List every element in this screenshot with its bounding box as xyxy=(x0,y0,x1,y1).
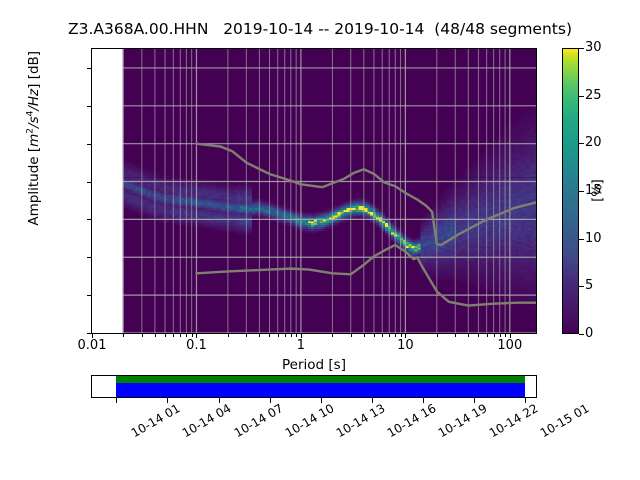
time-tick-mark xyxy=(321,398,322,403)
x-tick-label: 1 xyxy=(297,339,305,352)
x-tick-label: 100 xyxy=(497,339,522,352)
x-tick-mark-minor xyxy=(296,334,297,337)
x-tick-mark-minor xyxy=(395,334,396,337)
x-tick-label: 0.01 xyxy=(78,339,107,352)
colorbar-tick-mark xyxy=(579,286,584,287)
x-tick-mark-minor xyxy=(165,334,166,337)
x-tick-mark-minor xyxy=(500,334,501,337)
x-tick-mark-minor xyxy=(228,334,229,337)
time-tick-label: 10-14 13 xyxy=(334,402,387,439)
time-tick-mark xyxy=(219,398,220,403)
colorbar-tick-label: 20 xyxy=(585,136,602,149)
x-tick-mark xyxy=(510,334,511,338)
colorbar-tick-mark xyxy=(579,239,584,240)
y-tick-mark xyxy=(87,68,91,69)
time-tick-mark xyxy=(474,398,475,403)
colorbar-tick-mark xyxy=(579,48,584,49)
colorbar xyxy=(562,48,579,334)
time-tick-mark xyxy=(270,398,271,403)
x-tick-mark-minor xyxy=(155,334,156,337)
x-tick-label: 0.1 xyxy=(186,339,207,352)
x-tick-mark-minor xyxy=(374,334,375,337)
colorbar-tick-label: 15 xyxy=(585,184,602,197)
time-tick-label: 10-15 01 xyxy=(538,402,591,439)
colorbar-tick-label: 25 xyxy=(585,89,602,102)
colorbar-tick-mark xyxy=(579,191,584,192)
x-tick-mark xyxy=(301,334,302,338)
colorbar-tick-label: 30 xyxy=(585,41,602,54)
colorbar-tick-label: 0 xyxy=(585,327,593,340)
ppsd-figure: Z3.A368A.00.HHN 2019-10-14 -- 2019-10-14… xyxy=(0,0,640,480)
x-tick-mark-minor xyxy=(505,334,506,337)
x-tick-mark-minor xyxy=(180,334,181,337)
data-coverage-bar xyxy=(91,375,537,398)
x-tick-mark-minor xyxy=(269,334,270,337)
colorbar-tick-label: 5 xyxy=(585,279,593,292)
y-tick-mark xyxy=(87,219,91,220)
y-tick-mark xyxy=(87,144,91,145)
time-tick-mark xyxy=(372,398,373,403)
x-tick-mark-minor xyxy=(437,334,438,337)
x-tick-mark-minor xyxy=(192,334,193,337)
y-tick-mark xyxy=(87,295,91,296)
y-axis-label-text: Amplitude [m2/s4/Hz] [dB] xyxy=(25,51,41,226)
x-tick-mark-minor xyxy=(389,334,390,337)
time-tick-label: 10-14 01 xyxy=(130,402,183,439)
time-tick-mark xyxy=(423,398,424,403)
x-tick-mark-minor xyxy=(173,334,174,337)
time-tick-mark xyxy=(167,398,168,403)
x-tick-mark-minor xyxy=(455,334,456,337)
x-tick-mark-minor xyxy=(478,334,479,337)
colorbar-tick-mark xyxy=(579,143,584,144)
x-tick-mark-minor xyxy=(291,334,292,337)
x-tick-mark-minor xyxy=(246,334,247,337)
page-title: Z3.A368A.00.HHN 2019-10-14 -- 2019-10-14… xyxy=(0,20,640,38)
x-tick-mark-minor xyxy=(142,334,143,337)
time-tick-label: 10-14 10 xyxy=(283,402,336,439)
x-tick-mark-minor xyxy=(186,334,187,337)
x-axis-label: Period [s] xyxy=(91,357,537,373)
y-axis-label: Amplitude [m2/s4/Hz] [dB] xyxy=(25,8,42,268)
x-tick-label: 10 xyxy=(397,339,414,352)
time-tick-mark xyxy=(525,398,526,403)
x-tick-mark-minor xyxy=(382,334,383,337)
x-tick-mark-minor xyxy=(364,334,365,337)
x-tick-mark-minor xyxy=(351,334,352,337)
x-tick-mark-minor xyxy=(401,334,402,337)
y-tick-mark xyxy=(87,257,91,258)
x-tick-mark-minor xyxy=(468,334,469,337)
ppsd-canvas xyxy=(92,49,536,333)
x-tick-mark-minor xyxy=(494,334,495,337)
colorbar-tick-mark xyxy=(579,96,584,97)
time-tick-label: 10-14 22 xyxy=(487,402,540,439)
y-tick-mark xyxy=(87,106,91,107)
x-tick-mark-minor xyxy=(332,334,333,337)
time-tick-label: 10-14 16 xyxy=(385,402,438,439)
y-tick-mark xyxy=(87,333,91,334)
colorbar-tick-mark xyxy=(579,334,584,335)
x-tick-mark-minor xyxy=(285,334,286,337)
y-tick-mark xyxy=(87,182,91,183)
time-tick-mark xyxy=(116,398,117,403)
time-tick-label: 10-14 19 xyxy=(436,402,489,439)
x-tick-mark-minor xyxy=(259,334,260,337)
time-tick-label: 10-14 07 xyxy=(232,402,285,439)
time-tick-label: 10-14 04 xyxy=(181,402,234,439)
x-tick-mark-minor xyxy=(487,334,488,337)
x-tick-mark xyxy=(92,334,93,338)
x-tick-mark xyxy=(196,334,197,338)
coverage-segment-blue xyxy=(116,383,524,397)
x-tick-mark xyxy=(405,334,406,338)
x-tick-mark-minor xyxy=(123,334,124,337)
x-tick-mark-minor xyxy=(278,334,279,337)
colorbar-tick-label: 10 xyxy=(585,232,602,245)
coverage-segment-green xyxy=(116,376,524,383)
ppsd-plot-area xyxy=(91,48,537,334)
